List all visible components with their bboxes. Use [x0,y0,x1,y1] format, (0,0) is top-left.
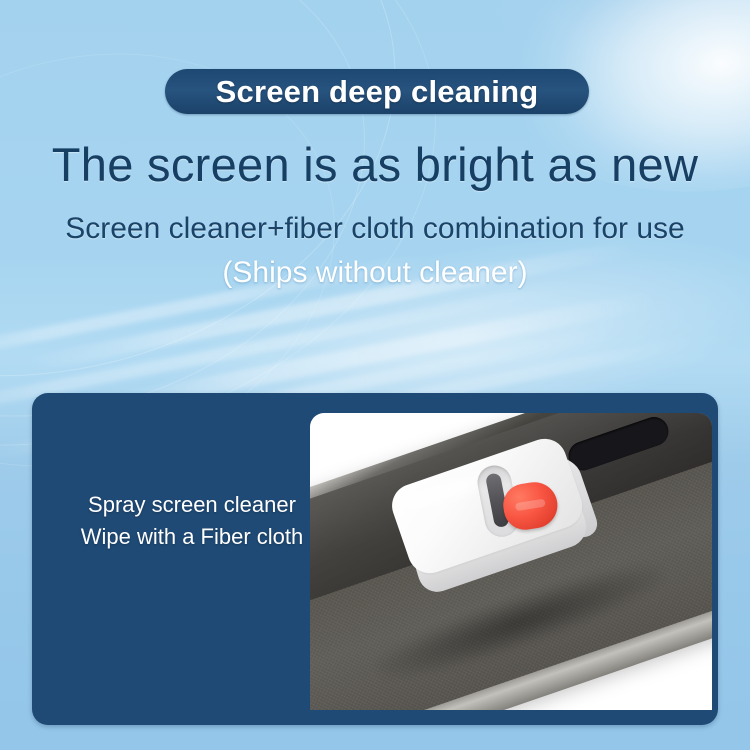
instruction-panel: Spray screen cleaner Wipe with a Fiber c… [32,393,718,725]
instruction-caption-line-1: Spray screen cleaner [58,489,326,521]
header-badge: Screen deep cleaning [165,69,589,114]
product-photo [310,413,712,710]
instruction-caption-line-2: Wipe with a Fiber cloth [58,521,326,553]
knob-grip-line [515,499,546,512]
hero-subline-2: (Ships without cleaner) [0,256,750,290]
hero-subline-1: Screen cleaner+fiber cloth combination f… [0,212,750,246]
instruction-caption: Spray screen cleaner Wipe with a Fiber c… [58,489,326,553]
header-badge-label: Screen deep cleaning [216,74,539,110]
page-title: The screen is as bright as new [0,137,750,192]
